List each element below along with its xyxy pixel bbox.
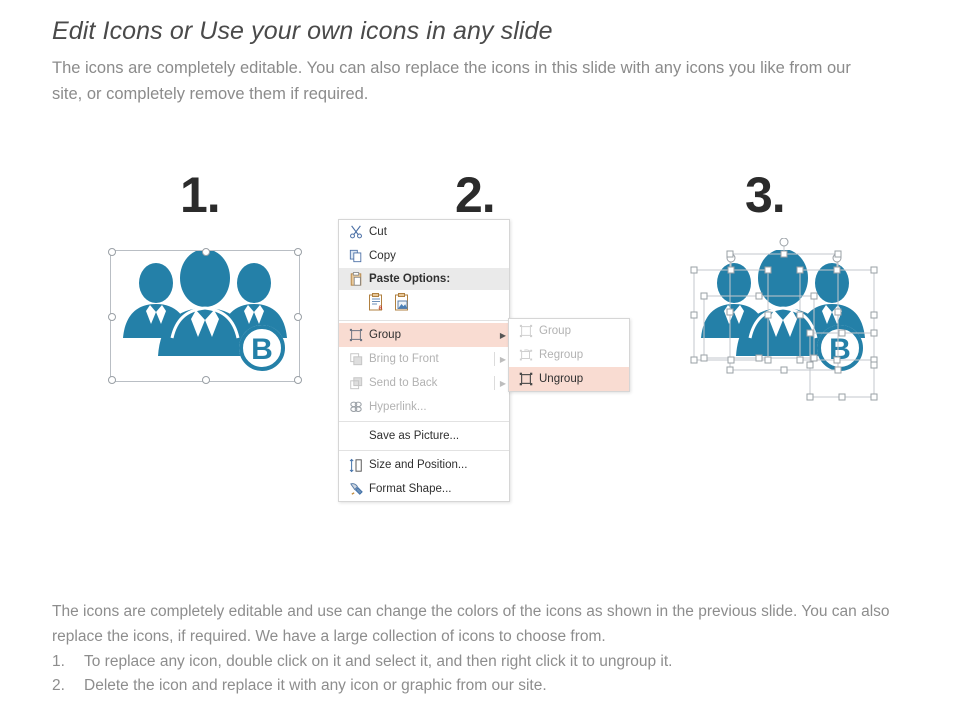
footer-list: 1. To replace any icon, double click on …: [52, 650, 942, 700]
paste-picture-icon[interactable]: [393, 293, 411, 315]
menu-item-send-to-back[interactable]: Send to Back ▶: [339, 371, 509, 395]
footer: The icons are completely editable and us…: [52, 600, 942, 699]
step-number-3: 3.: [745, 170, 785, 220]
menu-vertical-separator: [494, 352, 495, 366]
menu-item-save-as-picture[interactable]: Save as Picture...: [339, 424, 509, 448]
menu-separator: [339, 320, 509, 321]
list-item: 1. To replace any icon, double click on …: [52, 650, 942, 675]
page-title: Edit Icons or Use your own icons in any …: [52, 16, 942, 47]
menu-separator: [339, 421, 509, 422]
slide-canvas: Edit Icons or Use your own icons in any …: [0, 0, 960, 720]
stage-3-ungrouped-icon[interactable]: B: [680, 238, 890, 410]
menu-item-format-shape-label: Format Shape...: [369, 483, 509, 495]
menu-vertical-separator: [494, 376, 495, 390]
selection-frame: [110, 250, 300, 382]
list-item-number: 2.: [52, 674, 74, 699]
menu-item-bring-to-front-label: Bring to Front: [369, 353, 497, 365]
list-item-text: Delete the icon and replace it with any …: [84, 674, 547, 699]
resize-handle-bottom-center[interactable]: [202, 376, 210, 384]
copy-icon: [343, 246, 369, 266]
svg-text:a: a: [379, 305, 383, 312]
bring-to-front-icon: [343, 349, 369, 369]
submenu-item-group-label: Group: [539, 325, 629, 337]
resize-handle-top-left[interactable]: [108, 248, 116, 256]
send-to-back-icon: [343, 373, 369, 393]
paste-theme-icon[interactable]: a: [367, 293, 385, 315]
menu-item-cut-label: Cut: [369, 226, 509, 238]
menu-item-copy[interactable]: Copy: [339, 244, 509, 268]
resize-handle-bottom-left[interactable]: [108, 376, 116, 384]
menu-item-hyperlink[interactable]: Hyperlink...: [339, 395, 509, 419]
menu-item-hyperlink-label: Hyperlink...: [369, 401, 509, 413]
resize-handle-top-center[interactable]: [202, 248, 210, 256]
menu-item-size-and-position-label: Size and Position...: [369, 459, 509, 471]
submenu-item-ungroup-label: Ungroup: [539, 373, 629, 385]
stage-1-selected-icon[interactable]: B: [110, 250, 300, 382]
menu-item-copy-label: Copy: [369, 250, 509, 262]
regroup-icon: [513, 345, 539, 365]
menu-item-paste-options-label: Paste Options:: [369, 273, 509, 285]
resize-handle-middle-left[interactable]: [108, 313, 116, 321]
step-number-2: 2.: [455, 170, 495, 220]
resize-handle-middle-right[interactable]: [294, 313, 302, 321]
list-item-number: 1.: [52, 650, 74, 675]
menu-item-send-to-back-label: Send to Back: [369, 377, 497, 389]
menu-item-bring-to-front[interactable]: Bring to Front ▶: [339, 347, 509, 371]
ungrouped-selection-overlay: [680, 238, 890, 410]
menu-item-cut[interactable]: Cut: [339, 220, 509, 244]
resize-handle-bottom-right[interactable]: [294, 376, 302, 384]
list-item: 2. Delete the icon and replace it with a…: [52, 674, 942, 699]
header: Edit Icons or Use your own icons in any …: [52, 16, 942, 107]
menu-item-paste-options: Paste Options:: [339, 268, 509, 290]
format-shape-icon: [343, 479, 369, 499]
list-item-text: To replace any icon, double click on it …: [84, 650, 672, 675]
group-icon: [513, 321, 539, 341]
menu-item-save-as-picture-label: Save as Picture...: [369, 430, 509, 442]
submenu-item-regroup[interactable]: Regroup: [509, 343, 629, 367]
submenu-item-regroup-label: Regroup: [539, 349, 629, 361]
page-subtitle: The icons are completely editable. You c…: [52, 56, 882, 107]
no-icon: [343, 426, 369, 446]
resize-handle-top-right[interactable]: [294, 248, 302, 256]
menu-item-size-and-position[interactable]: Size and Position...: [339, 453, 509, 477]
group-icon: [343, 325, 369, 345]
menu-item-group-label: Group: [369, 329, 497, 341]
hyperlink-icon: [343, 397, 369, 417]
scissors-icon: [343, 222, 369, 242]
menu-separator: [339, 450, 509, 451]
submenu-item-group[interactable]: Group: [509, 319, 629, 343]
context-menu[interactable]: Cut Copy Paste Options: a: [338, 219, 510, 502]
footer-paragraph: The icons are completely editable and us…: [52, 600, 937, 650]
paste-options-row[interactable]: a: [339, 290, 509, 318]
ungroup-icon: [513, 369, 539, 389]
submenu-item-ungroup[interactable]: Ungroup: [509, 367, 629, 391]
menu-item-format-shape[interactable]: Format Shape...: [339, 477, 509, 501]
menu-item-group[interactable]: Group ▶: [339, 323, 509, 347]
size-position-icon: [343, 455, 369, 475]
step-number-1: 1.: [180, 170, 220, 220]
clipboard-icon: [343, 269, 369, 289]
group-submenu[interactable]: Group Regroup Ungroup: [508, 318, 630, 392]
